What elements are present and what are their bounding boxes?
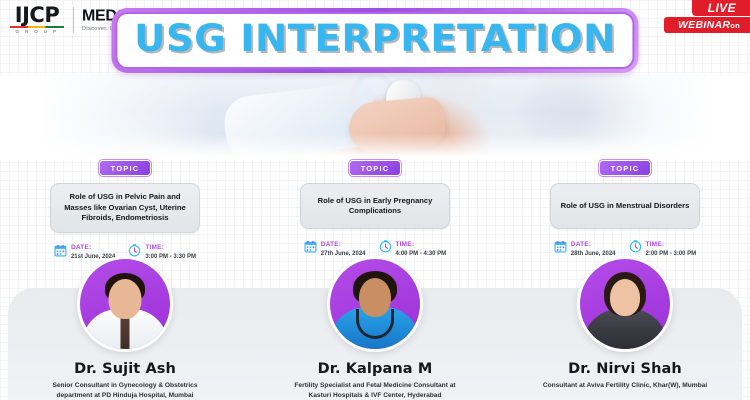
topic-badge: TOPIC xyxy=(99,160,152,176)
speaker-name: Dr. Sujit Ash xyxy=(74,361,176,377)
topic-title: Role of USG in Pelvic Pain and Masses li… xyxy=(60,192,190,224)
topic-column-2: TOPIC Role of USG in Early Pregnancy Com… xyxy=(250,160,500,262)
avatar-face xyxy=(610,279,640,316)
time-label: TIME: xyxy=(145,245,196,252)
avatar xyxy=(580,259,670,349)
avatar-ring xyxy=(577,256,673,352)
topics-row: TOPIC Role of USG in Pelvic Pain and Mas… xyxy=(0,160,750,262)
webinar-label: WEBINARon xyxy=(664,17,750,33)
speaker-2: Dr. Kalpana M Fertility Specialist and F… xyxy=(250,256,500,400)
speakers-row: Dr. Sujit Ash Senior Consultant in Gynec… xyxy=(0,256,750,400)
ijcp-wordmark: IJCP xyxy=(15,5,59,25)
ijcp-color-rule xyxy=(10,26,64,28)
speaker-name: Dr. Nirvi Shah xyxy=(568,361,682,377)
ijcp-logo: IJCP G R O U P xyxy=(10,5,64,34)
avatar-ring xyxy=(77,256,173,352)
speaker-3: Dr. Nirvi Shah Consultant at Aviva Ferti… xyxy=(500,256,750,400)
topic-column-1: TOPIC Role of USG in Pelvic Pain and Mas… xyxy=(0,160,250,262)
date-label: DATE: xyxy=(71,245,115,252)
speaker-credentials: Senior Consultant in Gynecology & Obstet… xyxy=(35,381,215,400)
avatar-face xyxy=(109,279,142,319)
speaker-credentials: Consultant at Aviva Fertility Clinic, Kh… xyxy=(535,381,715,391)
avatar xyxy=(80,259,170,349)
topic-card[interactable]: Role of USG in Early Pregnancy Complicat… xyxy=(300,183,450,229)
live-label: LIVE xyxy=(692,0,750,16)
date-label: DATE: xyxy=(321,242,366,249)
ultrasound-hero-image xyxy=(0,74,750,160)
topic-badge: TOPIC xyxy=(349,160,402,176)
date-label: DATE: xyxy=(571,242,616,249)
ijcp-group-label: G R O U P xyxy=(15,29,58,34)
speaker-credentials: Fertility Specialist and Fetal Medicine … xyxy=(285,381,465,400)
avatar-ring xyxy=(327,256,423,352)
time-label: TIME: xyxy=(396,242,447,249)
speaker-name: Dr. Kalpana M xyxy=(318,361,433,377)
speaker-1: Dr. Sujit Ash Senior Consultant in Gynec… xyxy=(0,256,250,400)
logo-divider xyxy=(73,7,74,33)
title-text: USG INTERPRETATION xyxy=(134,19,616,59)
webinar-text: WEBINAR xyxy=(678,19,730,31)
live-webinar-badge: LIVE WEBINARon xyxy=(664,0,750,33)
time-text: TIME: 4:00 PM - 4:30 PM xyxy=(396,242,447,257)
time-text: TIME: 2:00 PM - 3:00 PM xyxy=(646,242,697,257)
topic-badge: TOPIC xyxy=(599,160,652,176)
topic-card[interactable]: Role of USG in Menstrual Disorders xyxy=(550,183,700,229)
hero-fade-bottom xyxy=(0,134,750,160)
avatar xyxy=(330,259,420,349)
topic-title: Role of USG in Menstrual Disorders xyxy=(561,201,690,212)
topic-column-3: TOPIC Role of USG in Menstrual Disorders… xyxy=(500,160,750,262)
page-title: USG INTERPRETATION xyxy=(111,8,638,73)
topic-title: Role of USG in Early Pregnancy Complicat… xyxy=(310,196,440,217)
time-label: TIME: xyxy=(646,242,697,249)
webinar-on-text: on xyxy=(730,21,740,30)
title-frame: USG INTERPRETATION xyxy=(115,12,634,69)
topic-card[interactable]: Role of USG in Pelvic Pain and Masses li… xyxy=(50,183,200,233)
